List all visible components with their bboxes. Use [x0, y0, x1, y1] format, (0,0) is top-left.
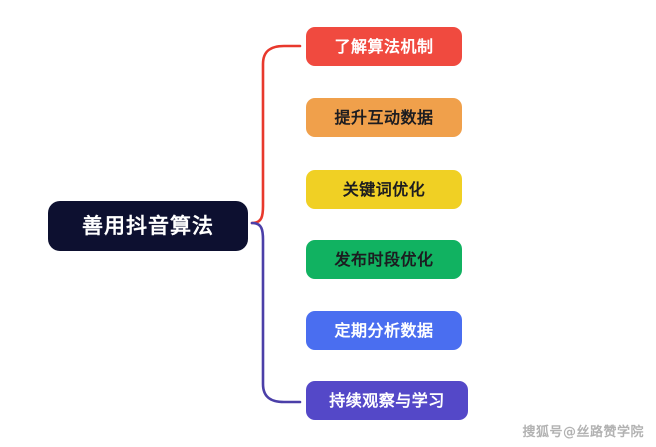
- root-node-label: 善用抖音算法: [82, 216, 214, 237]
- watermark: 搜狐号@丝路赞学院: [522, 426, 644, 439]
- branch-node-1-label: 了解算法机制: [334, 39, 433, 55]
- watermark-text: 搜狐号@丝路赞学院: [522, 426, 644, 439]
- branch-node-3[interactable]: 关键词优化: [306, 170, 462, 209]
- connector-upper-bracket: [252, 46, 300, 223]
- branch-node-2[interactable]: 提升互动数据: [306, 98, 462, 137]
- mindmap-canvas: 善用抖音算法 了解算法机制 提升互动数据 关键词优化 发布时段优化 定期分析数据…: [0, 0, 656, 447]
- root-node[interactable]: 善用抖音算法: [48, 201, 248, 251]
- branch-node-5-label: 定期分析数据: [334, 323, 433, 339]
- branch-node-6[interactable]: 持续观察与学习: [306, 381, 468, 420]
- branch-node-1[interactable]: 了解算法机制: [306, 27, 462, 66]
- branch-node-6-label: 持续观察与学习: [329, 393, 445, 409]
- connector-lower-bracket: [252, 223, 300, 402]
- branch-node-5[interactable]: 定期分析数据: [306, 311, 462, 350]
- branch-node-4-label: 发布时段优化: [334, 252, 433, 268]
- branch-node-3-label: 关键词优化: [343, 182, 426, 198]
- branch-node-4[interactable]: 发布时段优化: [306, 240, 462, 279]
- branch-node-2-label: 提升互动数据: [334, 110, 433, 126]
